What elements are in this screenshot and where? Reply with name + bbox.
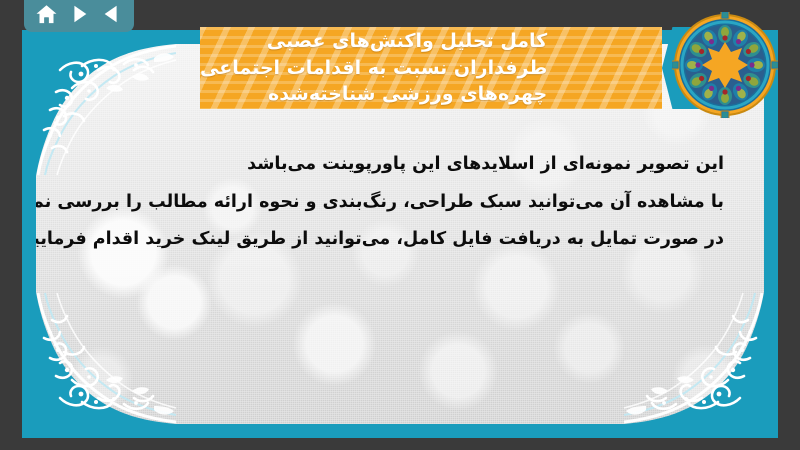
slide-body-text: این تصویر نمونه‌ای از اسلایدهای این پاور… [92, 156, 724, 249]
home-icon [35, 3, 58, 26]
triangle-left-icon [101, 3, 123, 25]
corner-ornament-bottom-left [36, 292, 176, 424]
body-line-2: با مشاهده آن می‌توانید سبک طراحی، رنگ‌بن… [92, 194, 724, 212]
page-title: کامل تحلیل واکنش‌های عصبی طرفداران نسبت … [200, 28, 551, 109]
banner-arrow-tip [662, 27, 720, 109]
previous-slide-button[interactable] [99, 2, 125, 26]
navigation-bar [24, 0, 134, 32]
home-button[interactable] [33, 2, 59, 26]
corner-ornament-bottom-right [624, 292, 764, 424]
slide-title-banner: کامل تحلیل واکنش‌های عصبی طرفداران نسبت … [200, 27, 720, 109]
body-line-3: در صورت تمایل به دریافت فایل کامل، می‌تو… [92, 231, 724, 249]
banner-body: کامل تحلیل واکنش‌های عصبی طرفداران نسبت … [200, 27, 662, 109]
next-slide-button[interactable] [66, 2, 92, 26]
body-line-1: این تصویر نمونه‌ای از اسلایدهای این پاور… [92, 156, 724, 174]
triangle-right-icon [68, 3, 90, 25]
